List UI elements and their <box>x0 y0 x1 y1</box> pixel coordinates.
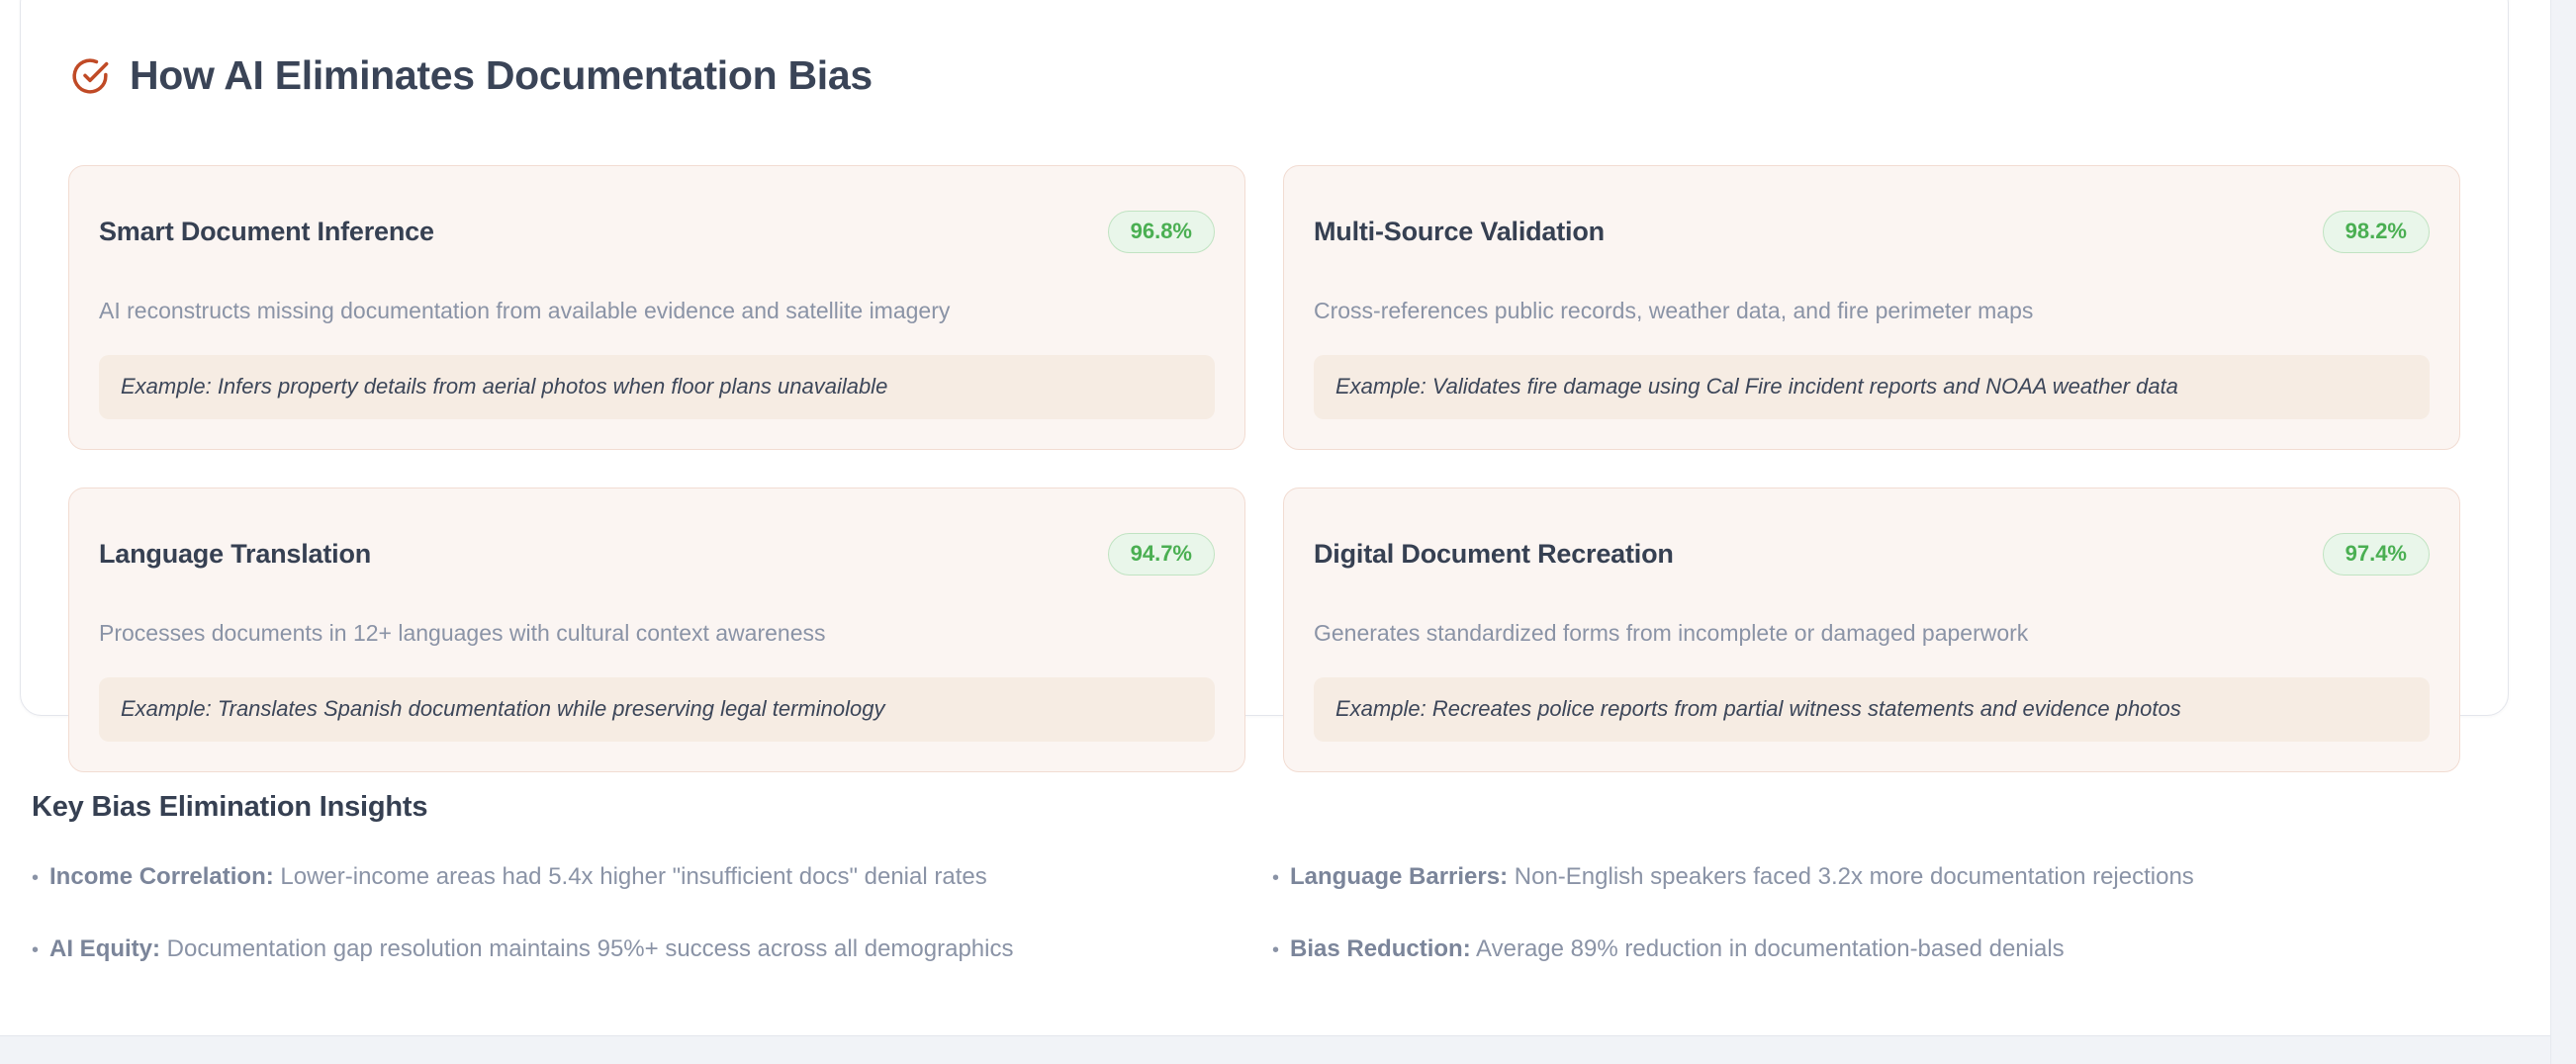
card-header: Smart Document Inference 96.8% <box>99 194 1215 270</box>
insight-body: Bias Reduction: Average 89% reduction in… <box>1290 933 2065 964</box>
card-description: Processes documents in 12+ languages wit… <box>99 617 1215 649</box>
insight-body: AI Equity: Documentation gap resolution … <box>49 933 1013 964</box>
card-example: Example: Recreates police reports from p… <box>1314 677 2430 742</box>
card-title: Smart Document Inference <box>99 216 434 247</box>
page-content: How AI Eliminates Documentation Bias Sma… <box>0 0 2550 1064</box>
insight-label: Bias Reduction: <box>1290 935 1471 962</box>
panel-header: How AI Eliminates Documentation Bias <box>21 0 2508 124</box>
list-item: • Bias Reduction: Average 89% reduction … <box>1272 933 2475 964</box>
bullet-icon: • <box>1272 868 1279 888</box>
card-header: Digital Document Recreation 97.4% <box>1314 516 2430 592</box>
scrollbar-track[interactable] <box>2550 0 2576 1064</box>
insight-value: Non-English speakers faced 3.2x more doc… <box>1508 863 2194 890</box>
status-badge: 94.7% <box>1108 533 1215 576</box>
card-example: Example: Translates Spanish documentatio… <box>99 677 1215 742</box>
status-badge: 97.4% <box>2323 533 2430 576</box>
card-example: Example: Validates fire damage using Cal… <box>1314 355 2430 419</box>
card-title: Language Translation <box>99 538 371 570</box>
insight-value: Average 89% reduction in documentation-b… <box>1471 935 2065 962</box>
feature-card-grid: Smart Document Inference 96.8% AI recons… <box>21 124 2508 772</box>
screenshot-viewport: How AI Eliminates Documentation Bias Sma… <box>0 0 2576 1064</box>
status-badge: 96.8% <box>1108 211 1215 253</box>
insight-value: Lower-income areas had 5.4x higher "insu… <box>274 863 987 890</box>
list-item: • Income Correlation: Lower-income areas… <box>32 861 1235 892</box>
insight-label: Language Barriers: <box>1290 863 1508 890</box>
insight-label: AI Equity: <box>49 935 160 962</box>
card-example: Example: Infers property details from ae… <box>99 355 1215 419</box>
card-title: Digital Document Recreation <box>1314 538 1674 570</box>
card-title: Multi-Source Validation <box>1314 216 1605 247</box>
bullet-icon: • <box>32 868 39 888</box>
page-title: How AI Eliminates Documentation Bias <box>130 55 873 96</box>
card-description: Generates standardized forms from incomp… <box>1314 617 2430 649</box>
insight-body: Language Barriers: Non-English speakers … <box>1290 861 2194 892</box>
list-item: • Language Barriers: Non-English speaker… <box>1272 861 2475 892</box>
feature-card-digital-document-recreation[interactable]: Digital Document Recreation 97.4% Genera… <box>1283 488 2460 772</box>
insights-title: Key Bias Elimination Insights <box>32 791 2475 824</box>
ai-bias-panel: How AI Eliminates Documentation Bias Sma… <box>20 0 2509 716</box>
feature-card-language-translation[interactable]: Language Translation 94.7% Processes doc… <box>68 488 1245 772</box>
card-description: AI reconstructs missing documentation fr… <box>99 295 1215 326</box>
insights-grid: • Income Correlation: Lower-income areas… <box>32 861 2475 964</box>
page-bottom-strip <box>0 1036 2550 1064</box>
status-badge: 98.2% <box>2323 211 2430 253</box>
card-description: Cross-references public records, weather… <box>1314 295 2430 326</box>
key-insights-section: Key Bias Elimination Insights • Income C… <box>32 791 2475 964</box>
insight-value: Documentation gap resolution maintains 9… <box>160 935 1013 962</box>
feature-card-smart-document-inference[interactable]: Smart Document Inference 96.8% AI recons… <box>68 165 1245 450</box>
insight-label: Income Correlation: <box>49 863 274 890</box>
insight-body: Income Correlation: Lower-income areas h… <box>49 861 987 892</box>
list-item: • AI Equity: Documentation gap resolutio… <box>32 933 1235 964</box>
bullet-icon: • <box>32 940 39 960</box>
bullet-icon: • <box>1272 940 1279 960</box>
card-header: Multi-Source Validation 98.2% <box>1314 194 2430 270</box>
feature-card-multi-source-validation[interactable]: Multi-Source Validation 98.2% Cross-refe… <box>1283 165 2460 450</box>
circle-check-icon <box>70 56 110 96</box>
card-header: Language Translation 94.7% <box>99 516 1215 592</box>
